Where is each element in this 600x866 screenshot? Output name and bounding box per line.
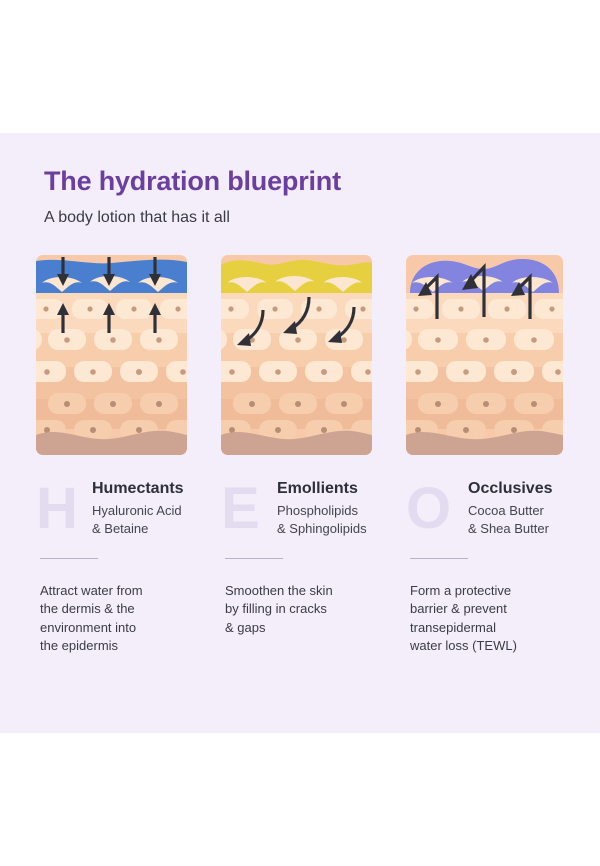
- column-humectants: H Humectants Hyaluronic Acid & Betaine A…: [36, 255, 211, 455]
- column-divider: [225, 558, 283, 559]
- skin-diagram-occlusives: [406, 255, 563, 455]
- column-description-humectants: Attract water from the dermis & the envi…: [40, 582, 143, 656]
- column-heading-humectants: Humectants: [92, 480, 184, 498]
- watermark-letter-o: O: [406, 480, 451, 538]
- column-occlusives: O Occlusives Cocoa Butter & Shea Butter …: [406, 255, 581, 455]
- page-title: The hydration blueprint: [44, 166, 341, 197]
- column-description-occlusives: Form a protective barrier & prevent tran…: [410, 582, 517, 656]
- page-subtitle: A body lotion that has it all: [44, 209, 230, 227]
- watermark-letter-h: H: [36, 480, 78, 538]
- column-ingredients-humectants: Hyaluronic Acid & Betaine: [92, 502, 182, 537]
- column-emollients: E Emollients Phospholipids & Sphingolipi…: [221, 255, 396, 455]
- watermark-letter-e: E: [221, 480, 260, 538]
- column-heading-emollients: Emollients: [277, 480, 358, 498]
- infographic-canvas: The hydration blueprint A body lotion th…: [0, 0, 600, 866]
- skin-diagram-emollients: [221, 255, 372, 455]
- skin-diagram-humectants: [36, 255, 187, 455]
- column-ingredients-emollients: Phospholipids & Sphingolipids: [277, 502, 367, 537]
- column-divider: [40, 558, 98, 559]
- column-heading-occlusives: Occlusives: [468, 480, 553, 498]
- column-ingredients-occlusives: Cocoa Butter & Shea Butter: [468, 502, 549, 537]
- column-description-emollients: Smoothen the skin by filling in cracks &…: [225, 582, 333, 637]
- column-divider: [410, 558, 468, 559]
